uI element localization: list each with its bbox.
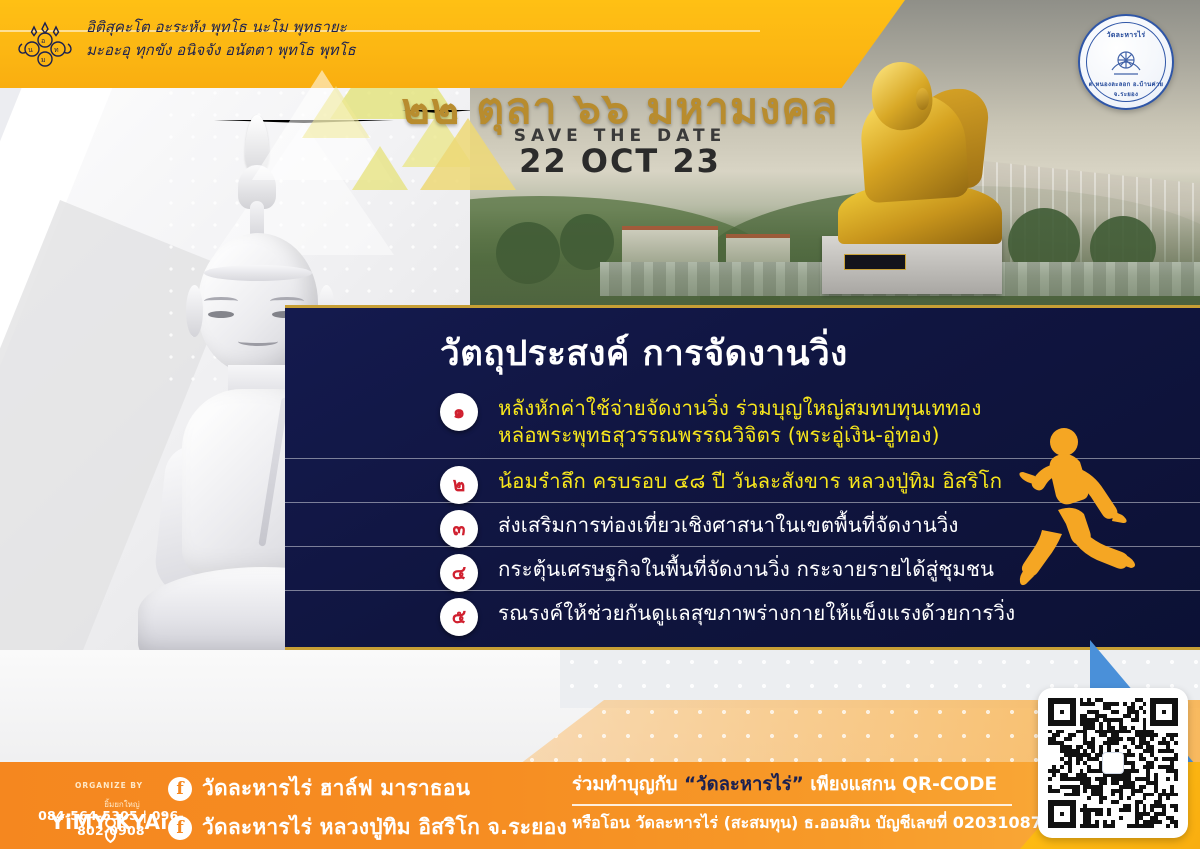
seal-bottom-text: ต.หนองละลอก อ.บ้านค่าย จ.ระยอง — [1080, 79, 1172, 99]
item-text: ส่งเสริมการท่องเที่ยวเชิงศาสนาในเขตพื้นท… — [498, 508, 959, 539]
donate-headline: ร่วมทำบุญกับ “วัดละหารไร่” เพียงแสกน QR-… — [572, 770, 1022, 799]
chant-line-1: อิติสุคะโต อะระหัง พุทโธ นะโม พุทธายะ — [86, 16, 356, 39]
monk-statue-pedestal — [822, 236, 1002, 294]
temple-seal-icon: วัดละหารไร่ ต.หนองละลอก อ.บ้านค่าย จ.ระย… — [1078, 14, 1174, 110]
event-date: 22 OCT 23 — [380, 142, 860, 180]
list-item: ๕ รณรงค์ให้ช่วยกันดูแลสุขภาพร่างกายให้แข… — [285, 590, 1200, 634]
donate-temple-name: “วัดละหารไร่” — [684, 774, 804, 795]
item-text: รณรงค์ให้ช่วยกันดูแลสุขภาพร่างกายให้แข็ง… — [498, 596, 1015, 627]
facebook-icon: f — [168, 816, 192, 840]
item-text: น้อมรำลึก ครบรอบ ๔๘ ปี วันละสังขาร หลวงป… — [498, 464, 1002, 495]
qr-code[interactable] — [1038, 688, 1188, 838]
donate-prefix: ร่วมทำบุญกับ — [572, 774, 678, 795]
item-number-badge: ๑ — [440, 393, 478, 431]
facebook-page-name: วัดละหารไร่ หลวงปู่ทิม อิสริโก จ.ระยอง — [202, 811, 567, 844]
facebook-links: f วัดละหารไร่ ฮาล์ฟ มาราธอน f วัดละหารไร… — [168, 772, 567, 849]
chant-line-2: มะอะอุ ทุกขัง อนิจจัง อนัตตา พุทโธ พุทโธ — [86, 39, 356, 62]
item-text: กระตุ้นเศรษฐกิจในพื้นที่จัดงานวิ่ง กระจา… — [498, 552, 994, 583]
donate-suffix: เพียงแสกน QR-CODE — [810, 774, 997, 795]
svg-text:อ: อ — [41, 37, 45, 45]
yantra-icon: อน ทม — [14, 14, 76, 76]
svg-text:ท: ท — [54, 46, 59, 54]
item-number-badge: ๕ — [440, 598, 478, 636]
objectives-panel: วัตถุประสงค์ การจัดงานวิ่ง ๑ หลังหักค่าใ… — [285, 305, 1200, 650]
organizer-by-label: ORGANIZE BY — [75, 781, 143, 790]
facebook-page-name: วัดละหารไร่ ฮาล์ฟ มาราธอน — [202, 772, 470, 805]
golden-monk-statue-icon — [838, 62, 1002, 244]
donation-info: ร่วมทำบุญกับ “วัดละหารไร่” เพียงแสกน QR-… — [572, 770, 1022, 836]
chant-text: อิติสุคะโต อะระหัง พุทโธ นะโม พุทธายะ มะ… — [86, 16, 356, 63]
donate-bank-account: หรือโอน วัดละหารไร่ (สะสมทุน) ธ.ออมสิน บ… — [572, 811, 1022, 836]
item-text: หลังหักค่าใช้จ่ายจัดงานวิ่ง ร่วมบุญใหญ่ส… — [498, 391, 981, 449]
contact-phones[interactable]: 084-564-5305 | 096-802-0908 — [36, 808, 186, 838]
facebook-link-2[interactable]: f วัดละหารไร่ หลวงปู่ทิม อิสริโก จ.ระยอง — [168, 811, 567, 844]
objectives-title: วัตถุประสงค์ การจัดงานวิ่ง — [440, 326, 848, 381]
item-number-badge: ๒ — [440, 466, 478, 504]
svg-text:น: น — [28, 46, 33, 54]
facebook-icon: f — [168, 777, 192, 801]
item-number-badge: ๓ — [440, 510, 478, 548]
svg-text:ม: ม — [41, 56, 46, 64]
poster-root: พระพุทธสุวรรณพรรณวิจิตร (พระอู่เงิน-อู่ท… — [0, 0, 1200, 849]
item-number-badge: ๔ — [440, 554, 478, 592]
running-man-icon — [1018, 424, 1138, 592]
facebook-link-1[interactable]: f วัดละหารไร่ ฮาล์ฟ มาราธอน — [168, 772, 567, 805]
